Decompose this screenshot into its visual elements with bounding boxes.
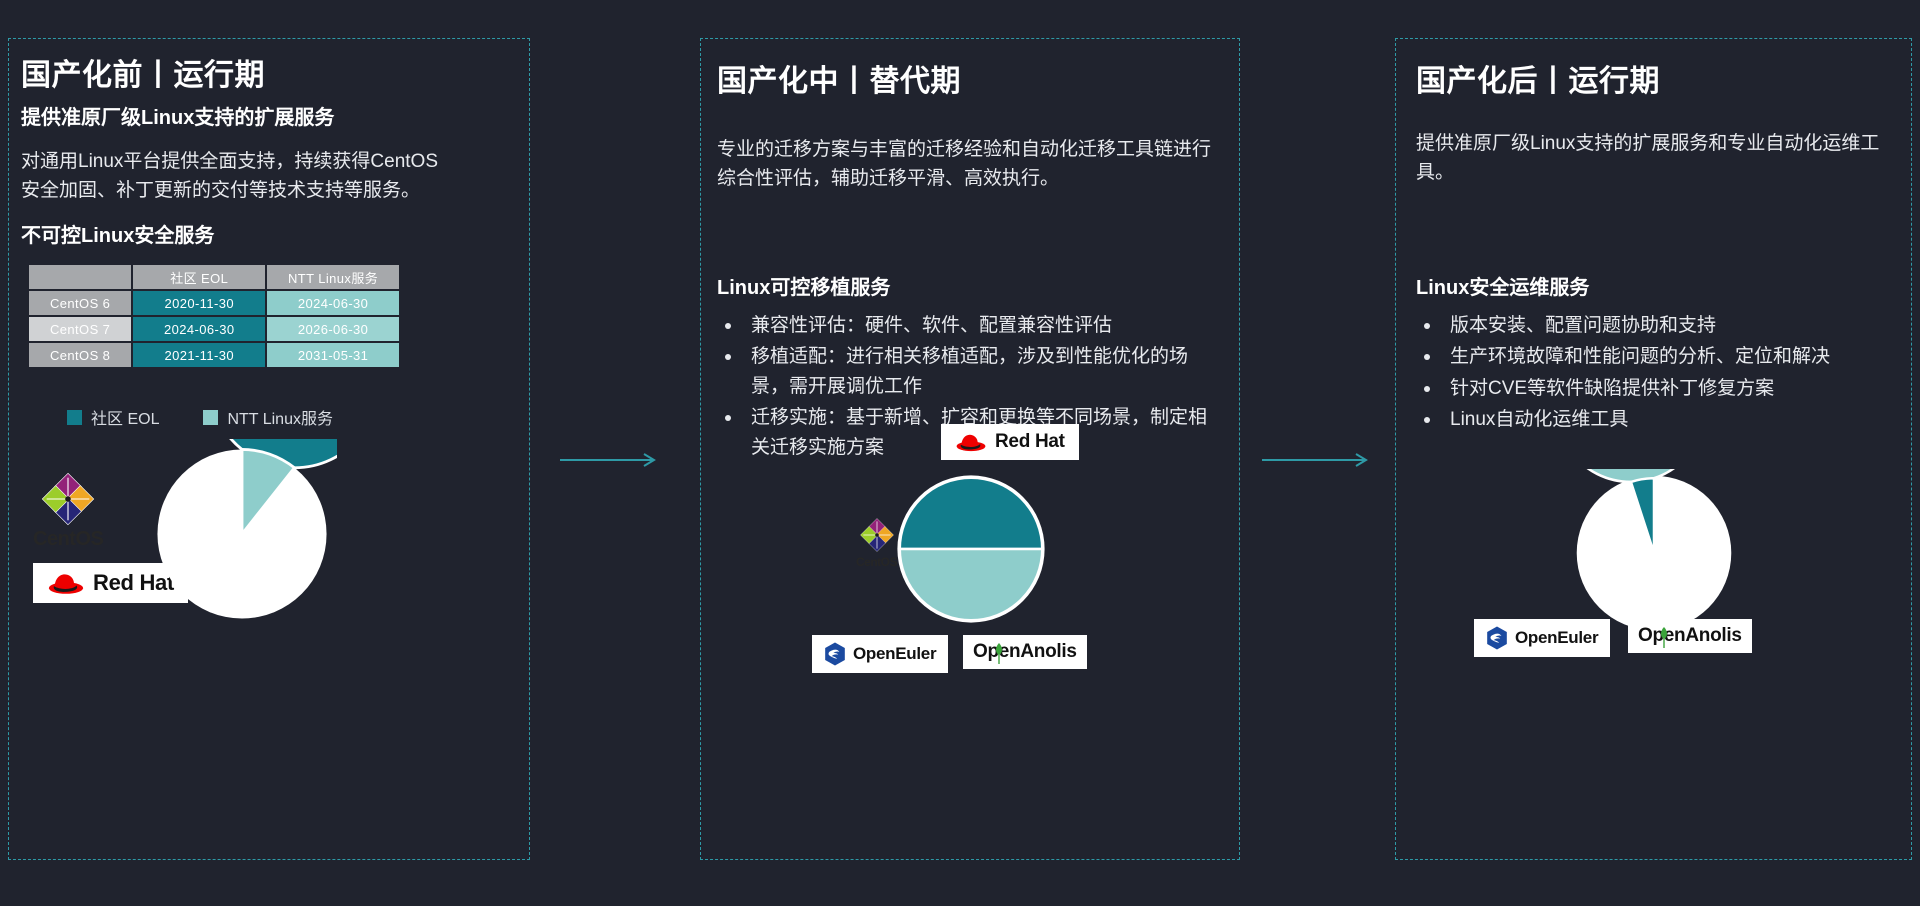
table-cell-eol: 2021-11-30: [133, 343, 265, 367]
redhat-fedora-icon: [47, 570, 85, 596]
section-head-during: Linux可控移植服务: [717, 271, 890, 300]
legend-item-community-eol: 社区 EOL: [67, 405, 159, 429]
openeuler-icon: [824, 642, 846, 666]
list-item: 兼容性评估：硬件、软件、配置兼容性评估: [717, 311, 1222, 340]
panel-body-during: 专业的迁移方案与丰富的迁移经验和自动化迁移工具链进行综合性评估，辅助迁移平滑、高…: [717, 135, 1217, 194]
arrow-before-to-during: [560, 450, 660, 475]
table-col-blank: [29, 265, 131, 289]
table-col-community-eol: 社区 EOL: [133, 265, 265, 289]
legend-label: 社区 EOL: [91, 405, 159, 429]
centos-logo: CentOS: [33, 471, 103, 551]
section-head-after: Linux安全运维服务: [1416, 271, 1589, 300]
list-item: 针对CVE等软件缺陷提供补丁修复方案: [1416, 374, 1906, 403]
table-header-row: 社区 EOL NTT Linux服务: [29, 265, 399, 289]
table-cell-ntt: 2026-06-30: [267, 317, 399, 341]
panel-body-after: 提供准原厂级Linux支持的扩展服务和专业自动化运维工具。: [1416, 129, 1886, 188]
table-cell-ntt: 2024-06-30: [267, 291, 399, 315]
redhat-wordmark: Red Hat: [995, 431, 1065, 453]
openeuler-icon: [1486, 626, 1508, 650]
table-cell-os: CentOS 6: [29, 291, 131, 315]
openanolis-wordmark: OpenAnolis: [1638, 625, 1742, 647]
list-item: 移植适配：进行相关移植适配，涉及到性能优化的场景，需开展调优工作: [717, 342, 1222, 401]
list-item: 版本安装、配置问题协助和支持: [1416, 311, 1906, 340]
table-cell-eol: 2020-11-30: [133, 291, 265, 315]
redhat-fedora-icon: [955, 431, 987, 453]
panel-body-before: 对通用Linux平台提供全面支持，持续获得CentOS安全加固、补丁更新的交付等…: [21, 147, 439, 206]
list-item: 生产环境故障和性能问题的分析、定位和解决: [1416, 342, 1906, 371]
table-cell-os: CentOS 7: [29, 317, 131, 341]
panel-subtitle-before: 提供准原厂级Linux支持的扩展服务: [21, 105, 334, 131]
table-cell-ntt: 2031-05-31: [267, 343, 399, 367]
openeuler-wordmark: OpenEuler: [853, 644, 936, 664]
pie-during: [711, 469, 1231, 629]
openanolis-leaf-icon: [1658, 625, 1668, 647]
section-head-before: 不可控Linux安全服务: [21, 219, 214, 248]
table-col-ntt-linux: NTT Linux服务: [267, 265, 399, 289]
arrow-during-to-after: [1262, 450, 1372, 475]
openanolis-logo: OpenAnolis: [1628, 619, 1752, 653]
table-cell-eol: 2024-06-30: [133, 317, 265, 341]
openeuler-wordmark: OpenEuler: [1515, 628, 1598, 648]
panel-during-localization: 国产化中丨替代期 专业的迁移方案与丰富的迁移经验和自动化迁移工具链进行综合性评估…: [700, 38, 1240, 860]
openeuler-logo: OpenEuler: [1474, 619, 1610, 657]
legend-swatch-icon: [67, 410, 82, 425]
table-row: CentOS 6 2020-11-30 2024-06-30: [29, 291, 399, 315]
table-cell-os: CentOS 8: [29, 343, 131, 367]
bullet-list-after: 版本安装、配置问题协助和支持 生产环境故障和性能问题的分析、定位和解决 针对CV…: [1416, 311, 1906, 437]
legend-item-ntt-linux: NTT Linux服务: [203, 405, 333, 429]
pie-before: [147, 439, 337, 634]
table-row: CentOS 8 2021-11-30 2031-05-31: [29, 343, 399, 367]
redhat-logo: Red Hat: [941, 424, 1079, 460]
centos-icon: [40, 471, 96, 532]
table-row: CentOS 7 2024-06-30 2026-06-30: [29, 317, 399, 341]
openanolis-wordmark: OpenAnolis: [973, 641, 1077, 663]
slide-canvas: 国产化前丨运行期 提供准原厂级Linux支持的扩展服务 对通用Linux平台提供…: [0, 0, 1920, 906]
eol-table: 社区 EOL NTT Linux服务 CentOS 6 2020-11-30 2…: [27, 263, 401, 369]
openeuler-logo: OpenEuler: [812, 635, 948, 673]
panel-title-after: 国产化后丨运行期: [1416, 65, 1660, 100]
legend-swatch-icon: [203, 410, 218, 425]
panel-before-localization: 国产化前丨运行期 提供准原厂级Linux支持的扩展服务 对通用Linux平台提供…: [8, 38, 530, 860]
openanolis-logo: OpenAnolis: [963, 635, 1087, 669]
list-item: Linux自动化运维工具: [1416, 405, 1906, 434]
openanolis-leaf-icon: [993, 641, 1003, 663]
pie-after: [1396, 469, 1911, 637]
pie-legend: 社区 EOL NTT Linux服务: [67, 405, 333, 429]
legend-label: NTT Linux服务: [227, 405, 333, 429]
panel-title-before: 国产化前丨运行期: [21, 59, 265, 94]
panel-title-during: 国产化中丨替代期: [717, 65, 961, 100]
panel-after-localization: 国产化后丨运行期 提供准原厂级Linux支持的扩展服务和专业自动化运维工具。 L…: [1395, 38, 1912, 860]
